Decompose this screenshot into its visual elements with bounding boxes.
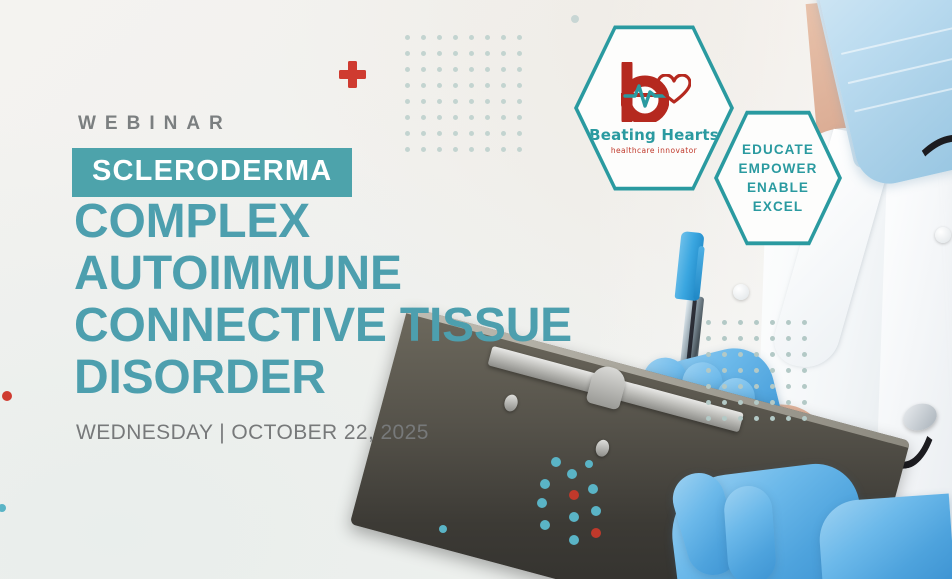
event-date: WEDNESDAY | OCTOBER 22, 2025: [76, 421, 429, 445]
brand-name: Beating Hearts: [589, 126, 719, 144]
scatter-dot: [591, 506, 601, 516]
grid-dot: [469, 83, 474, 88]
grid-dot: [754, 368, 759, 373]
tagline-line: EXCEL: [739, 197, 818, 216]
grid-dot: [738, 336, 743, 341]
headline-line: CONNECTIVE TISSUE: [74, 300, 572, 352]
grid-dot: [754, 400, 759, 405]
headline-line: COMPLEX: [74, 196, 572, 248]
grid-dot: [485, 147, 490, 152]
grid-dot: [485, 115, 490, 120]
grid-dot: [754, 336, 759, 341]
grid-dot: [437, 51, 442, 56]
scatter-dot: [569, 512, 579, 522]
grid-dot: [517, 67, 522, 72]
grid-dot: [437, 131, 442, 136]
grid-dot: [738, 416, 743, 421]
grid-dot: [517, 35, 522, 40]
grid-dot: [722, 400, 727, 405]
tagline-line: EMPOWER: [739, 159, 818, 178]
scatter-dot: [551, 457, 561, 467]
headline-line: AUTOIMMUNE: [74, 248, 572, 300]
grid-dot: [706, 400, 711, 405]
grid-dot: [485, 35, 490, 40]
grid-dot: [706, 352, 711, 357]
stethoscope-tip-right: [935, 227, 951, 243]
grid-dot: [469, 67, 474, 72]
grid-dot: [501, 51, 506, 56]
grid-dot: [437, 115, 442, 120]
grid-dot: [754, 320, 759, 325]
grid-dot: [421, 83, 426, 88]
scatter-dot: [569, 535, 579, 545]
scatter-dot: [540, 479, 550, 489]
grid-dot: [802, 352, 807, 357]
heart-icon: [657, 74, 691, 104]
grid-dot: [469, 35, 474, 40]
grid-dot: [786, 336, 791, 341]
grid-dot: [469, 147, 474, 152]
grid-dot: [722, 336, 727, 341]
grid-dot: [421, 131, 426, 136]
grid-dot: [754, 352, 759, 357]
grid-dot: [405, 67, 410, 72]
grid-dot: [485, 99, 490, 104]
scatter-dot: [571, 15, 579, 23]
grid-dot: [706, 384, 711, 389]
grid-dot: [786, 368, 791, 373]
grid-dot: [738, 352, 743, 357]
glove-wrist: [817, 494, 952, 579]
grid-dot: [802, 384, 807, 389]
grid-dot: [802, 400, 807, 405]
grid-dot: [786, 352, 791, 357]
grid-dot: [453, 67, 458, 72]
grid-dot: [786, 320, 791, 325]
grid-dot: [501, 131, 506, 136]
eyebrow-label: WEBINAR: [78, 113, 232, 135]
grid-dot: [706, 336, 711, 341]
glove-finger: [723, 484, 778, 579]
grid-dot: [405, 115, 410, 120]
grid-dot: [501, 99, 506, 104]
topic-badge: SCLERODERMA: [72, 148, 352, 197]
grid-dot: [722, 352, 727, 357]
grid-dot: [421, 99, 426, 104]
grid-dot: [501, 115, 506, 120]
grid-dot: [722, 368, 727, 373]
grid-dot: [738, 320, 743, 325]
grid-dot: [405, 99, 410, 104]
scatter-dot: [567, 469, 577, 479]
grid-dot: [770, 336, 775, 341]
grid-dot: [453, 131, 458, 136]
grid-dot: [770, 384, 775, 389]
grid-dot: [517, 115, 522, 120]
scatter-dot: [591, 528, 601, 538]
grid-dot: [437, 35, 442, 40]
grid-dot: [405, 131, 410, 136]
grid-dot: [453, 99, 458, 104]
grid-dot: [517, 83, 522, 88]
grid-dot: [722, 384, 727, 389]
grid-dot: [517, 51, 522, 56]
stethoscope-tip-left: [733, 284, 749, 300]
grid-dot: [453, 147, 458, 152]
grid-dot: [754, 384, 759, 389]
webinar-banner: Beating Hearts healthcare innovator EDUC…: [0, 0, 952, 579]
grid-dot: [501, 35, 506, 40]
grid-dot: [485, 83, 490, 88]
grid-dot: [738, 384, 743, 389]
grid-dot: [501, 67, 506, 72]
grid-dot: [453, 115, 458, 120]
grid-dot: [421, 67, 426, 72]
grid-dot: [786, 384, 791, 389]
grid-dot: [802, 368, 807, 373]
grid-dot: [802, 320, 807, 325]
grid-dot: [770, 352, 775, 357]
scatter-dot: [569, 490, 579, 500]
grid-dot: [453, 83, 458, 88]
scatter-dot: [2, 391, 12, 401]
medical-cross-icon: [339, 61, 366, 88]
grid-dot: [738, 400, 743, 405]
grid-dot: [738, 368, 743, 373]
tagline-list: EDUCATE EMPOWER ENABLE EXCEL: [739, 140, 818, 217]
grid-dot: [802, 416, 807, 421]
grid-dot: [437, 67, 442, 72]
grid-dot: [485, 67, 490, 72]
grid-dot: [501, 147, 506, 152]
grid-dot: [706, 320, 711, 325]
grid-dot: [770, 368, 775, 373]
scatter-dot: [540, 520, 550, 530]
grid-dot: [754, 416, 759, 421]
grid-dot: [469, 115, 474, 120]
scatter-dot: [588, 484, 598, 494]
grid-dot: [517, 131, 522, 136]
grid-dot: [770, 400, 775, 405]
grid-dot: [722, 320, 727, 325]
grid-dot: [706, 416, 711, 421]
grid-dot: [405, 51, 410, 56]
page-title: COMPLEX AUTOIMMUNE CONNECTIVE TISSUE DIS…: [74, 196, 572, 404]
grid-dot: [421, 35, 426, 40]
grid-dot: [770, 416, 775, 421]
grid-dot: [485, 131, 490, 136]
grid-dot: [469, 51, 474, 56]
grid-dot: [453, 51, 458, 56]
grid-dot: [437, 83, 442, 88]
grid-dot: [421, 147, 426, 152]
grid-dot: [421, 115, 426, 120]
grid-dot: [453, 35, 458, 40]
headline-line: DISORDER: [74, 352, 572, 404]
grid-dot: [706, 368, 711, 373]
grid-dot: [469, 131, 474, 136]
grid-dot: [405, 83, 410, 88]
grid-dot: [437, 147, 442, 152]
grid-dot: [485, 51, 490, 56]
grid-dot: [469, 99, 474, 104]
grid-dot: [501, 83, 506, 88]
scatter-dot: [537, 498, 547, 508]
grid-dot: [517, 99, 522, 104]
grid-dot: [437, 99, 442, 104]
scatter-dot: [439, 525, 447, 533]
grid-dot: [786, 400, 791, 405]
grid-dot: [421, 51, 426, 56]
grid-dot: [802, 336, 807, 341]
grid-dot: [405, 147, 410, 152]
grid-dot: [786, 416, 791, 421]
grid-dot: [517, 147, 522, 152]
grid-dot: [722, 416, 727, 421]
beating-hearts-logo-icon: [611, 62, 697, 124]
scatter-dot: [585, 460, 593, 468]
tagline-line: ENABLE: [739, 178, 818, 197]
brand-tagline: healthcare innovator: [611, 146, 697, 155]
grid-dot: [770, 320, 775, 325]
grid-dot: [405, 35, 410, 40]
tagline-line: EDUCATE: [739, 140, 818, 159]
